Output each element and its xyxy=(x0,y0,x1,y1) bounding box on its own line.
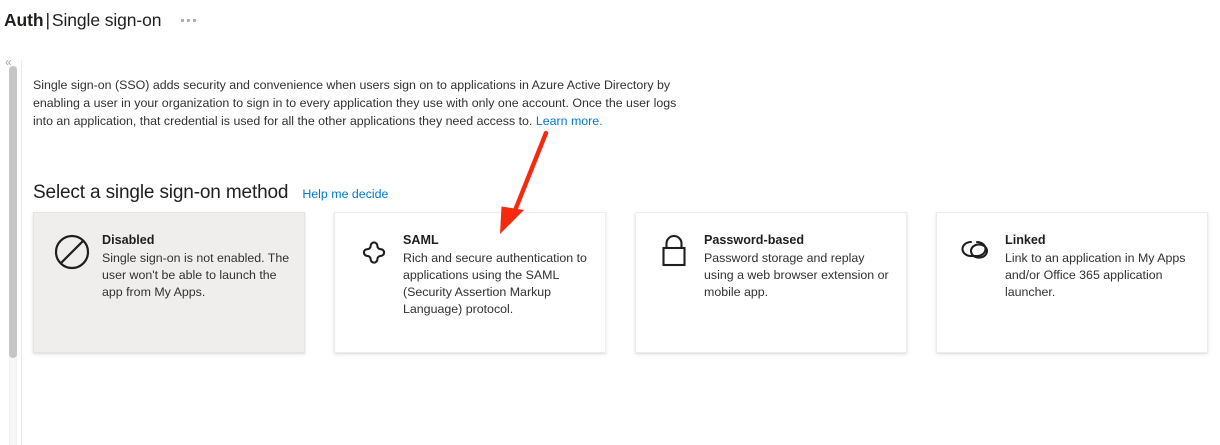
card-description: Single sign-on is not enabled. The user … xyxy=(102,250,290,301)
intro-paragraph: Single sign-on (SSO) adds security and c… xyxy=(33,76,678,130)
page-header: Auth|Single sign-on xyxy=(0,0,1220,40)
card-body: Password-based Password storage and repl… xyxy=(704,231,892,352)
page-title-blade: Single sign-on xyxy=(52,10,162,30)
sso-method-card-linked[interactable]: Linked Link to an application in My Apps… xyxy=(936,212,1208,353)
help-me-decide-link[interactable]: Help me decide xyxy=(302,187,388,201)
padlock-icon xyxy=(652,231,696,275)
card-description: Rich and secure authentication to applic… xyxy=(403,250,591,318)
blade-content: Single sign-on (SSO) adds security and c… xyxy=(33,76,1213,204)
chain-link-icon xyxy=(953,231,997,275)
ellipsis-dot-3 xyxy=(193,19,196,22)
card-description: Link to an application in My Apps and/or… xyxy=(1005,250,1193,301)
sso-method-card-disabled[interactable]: Disabled Single sign-on is not enabled. … xyxy=(33,212,305,353)
card-body: SAML Rich and secure authentication to a… xyxy=(403,231,591,352)
sso-method-card-list: Disabled Single sign-on is not enabled. … xyxy=(33,212,1211,353)
page-title-separator: | xyxy=(43,10,51,30)
section-title: Select a single sign-on method xyxy=(33,182,288,204)
sso-method-card-saml[interactable]: SAML Rich and secure authentication to a… xyxy=(334,212,606,353)
card-title: Disabled xyxy=(102,232,290,249)
learn-more-link[interactable]: Learn more. xyxy=(536,114,603,128)
single-sign-on-page: Auth|Single sign-on « Single sign-on (SS… xyxy=(0,0,1220,445)
page-title-resource: Auth xyxy=(4,10,43,30)
card-title: Password-based xyxy=(704,232,892,249)
puzzle-piece-icon xyxy=(351,231,395,275)
sso-method-card-password-based[interactable]: Password-based Password storage and repl… xyxy=(635,212,907,353)
card-description: Password storage and replay using a web … xyxy=(704,250,892,301)
more-options-icon[interactable] xyxy=(177,13,200,28)
ellipsis-dot-2 xyxy=(187,19,190,22)
no-entry-icon xyxy=(50,231,94,275)
card-body: Linked Link to an application in My Apps… xyxy=(1005,231,1193,352)
ellipsis-dot-1 xyxy=(181,19,184,22)
page-title: Auth|Single sign-on xyxy=(4,9,161,31)
section-header: Select a single sign-on method Help me d… xyxy=(33,182,1213,204)
content-rail-divider xyxy=(21,60,22,445)
card-title: Linked xyxy=(1005,232,1193,249)
vertical-scrollbar-thumb[interactable] xyxy=(9,66,17,358)
card-title: SAML xyxy=(403,232,591,249)
card-body: Disabled Single sign-on is not enabled. … xyxy=(102,231,290,352)
